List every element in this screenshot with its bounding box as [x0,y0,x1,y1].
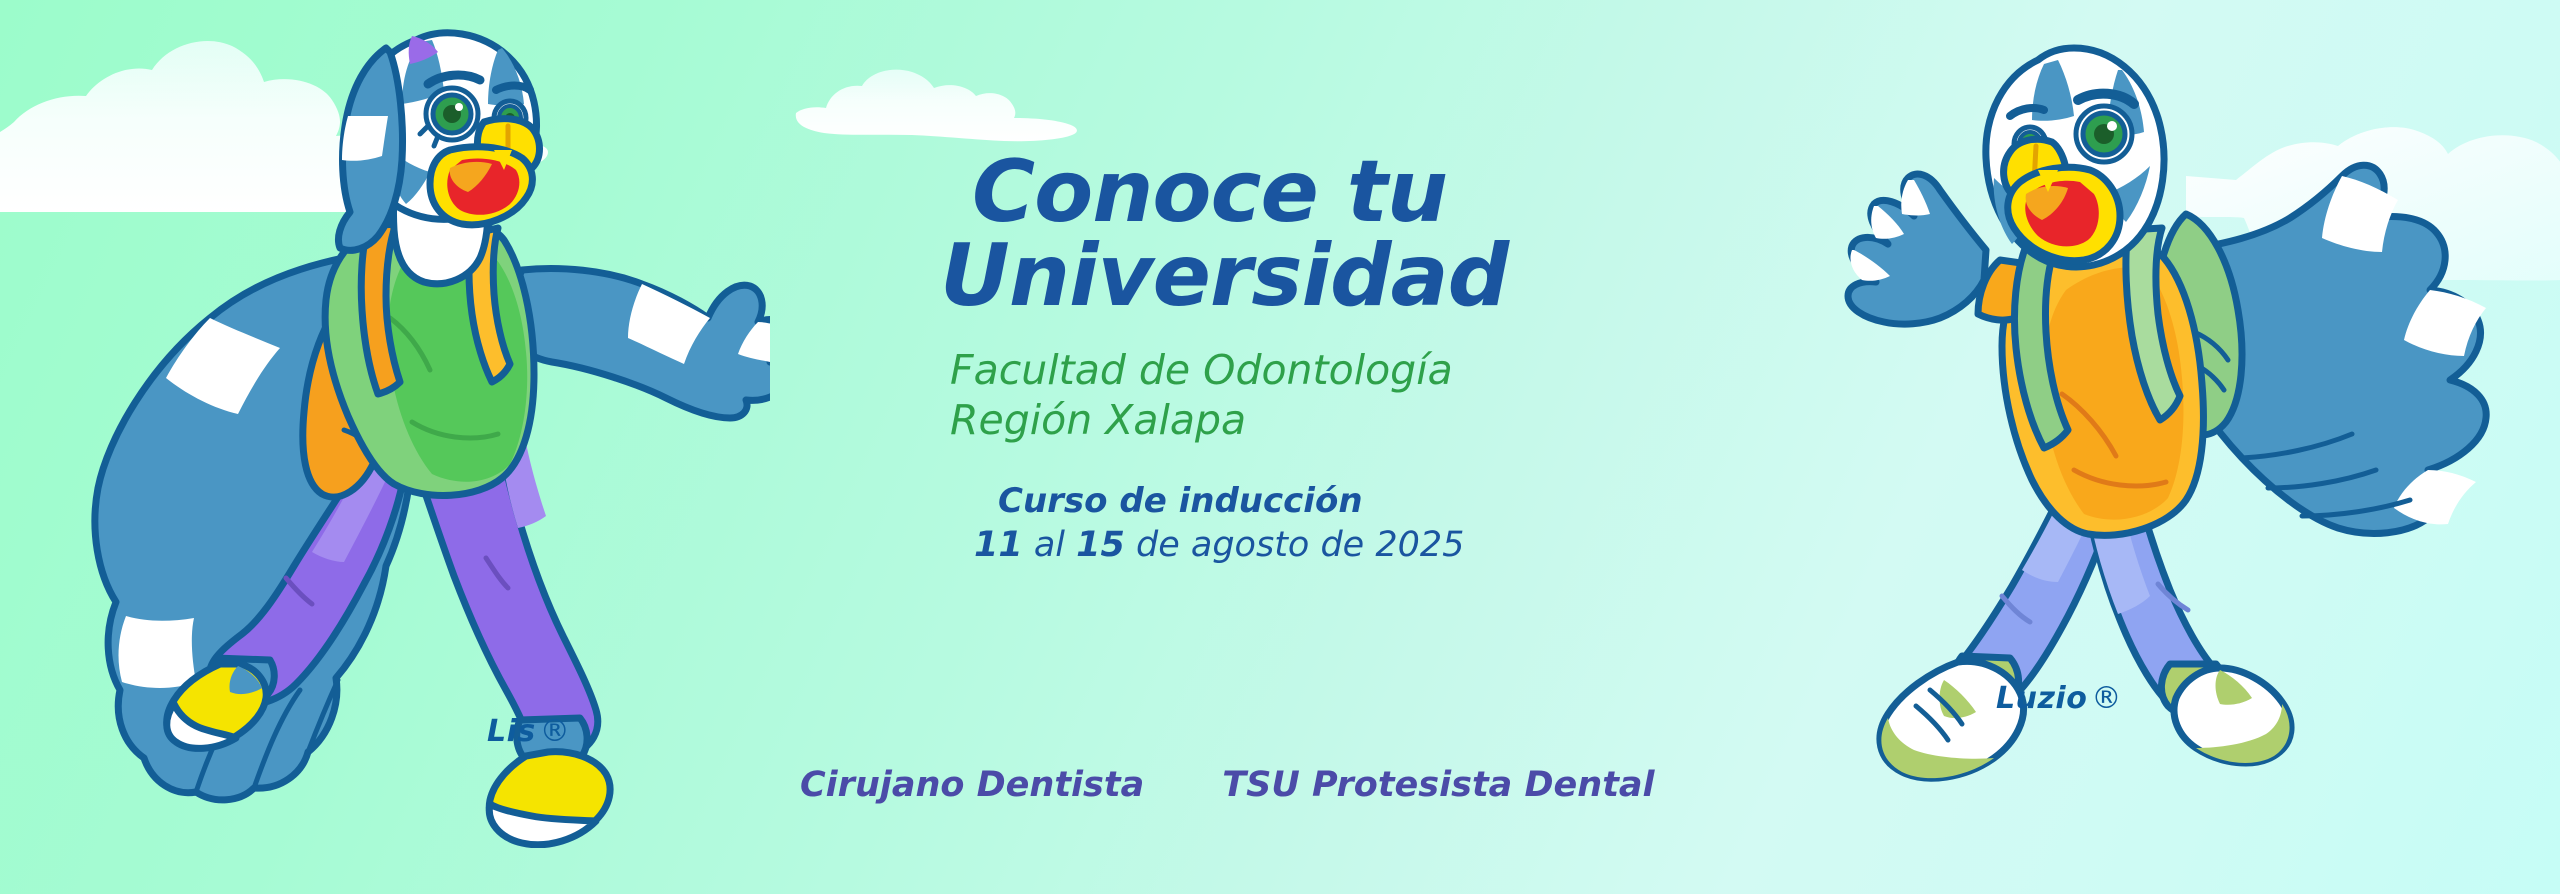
mascot-name-luzio: Luzio® [1996,681,2122,716]
course-date-end: 15 [1076,525,1125,565]
trademark-symbol-luzio: ® [2087,681,2122,716]
banner-text-block: Conoce tu Universidad Facultad de Odonto… [940,150,1640,565]
mascot-name-luzio-text: Luzio [1996,681,2087,716]
program-cirujano-dentista: Cirujano Dentista [800,765,1144,805]
trademark-symbol-lis: ® [536,714,571,749]
program-list: Cirujano Dentista TSU Protesista Dental [800,765,1800,805]
mascot-name-lis: Lis® [487,714,570,749]
cloud-icon-center [796,70,1077,142]
program-tsu-protesista-dental: TSU Protesista Dental [1222,765,1654,805]
mascot-lis [90,18,770,848]
faculty-region: Región Xalapa [950,395,1640,445]
course-date-start: 11 [974,525,1023,565]
course-date-join: al [1023,525,1076,565]
course-dates: 11 al 15 de agosto de 2025 [974,525,1640,565]
mascot-luzio [1790,18,2550,838]
page-title-line-1: Conoce tu [940,150,1640,234]
course-info: Curso de inducción 11 al 15 de agosto de… [998,481,1640,565]
page-title: Conoce tu Universidad [940,150,1640,319]
page-title-line-2: Universidad [940,234,1640,318]
course-title: Curso de inducción [998,481,1640,521]
faculty-name: Facultad de Odontología [950,345,1640,395]
mascot-name-lis-text: Lis [487,714,536,749]
course-date-tail: de agosto de 2025 [1125,525,1465,565]
faculty-subtitle: Facultad de Odontología Región Xalapa [950,345,1640,445]
conoce-tu-universidad-banner: Lis® Luzio® Conoce tu Universidad Facult… [0,0,2560,894]
